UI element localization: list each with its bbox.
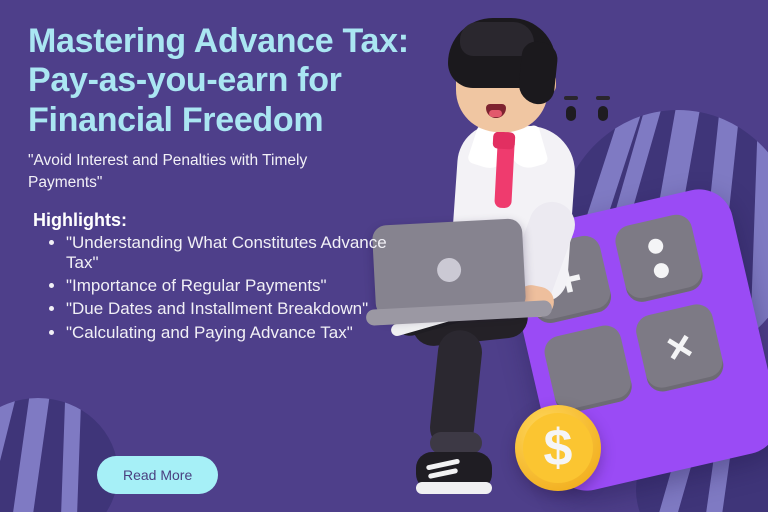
title-line-1: Mastering Advance Tax:: [28, 22, 409, 60]
dollar-icon: $: [515, 405, 601, 491]
list-item: "Due Dates and Installment Breakdown": [66, 299, 410, 319]
calculator-key-divide: [612, 212, 706, 306]
title-line-2: Pay-as-you-earn for: [28, 61, 342, 99]
list-item: "Calculating and Paying Advance Tax": [66, 323, 410, 343]
poster-canvas: + ×: [0, 0, 768, 512]
calculator-key-blank: [541, 322, 635, 416]
text-content: Mastering Advance Tax: Pay-as-you-earn f…: [0, 0, 430, 512]
character-hair-side: [517, 40, 559, 105]
divide-icon-dot-top: [647, 237, 665, 255]
highlights-heading: Highlights:: [0, 194, 430, 231]
highlights-list: "Understanding What Constitutes Advance …: [0, 233, 430, 342]
calculator-key-multiply: ×: [633, 301, 727, 395]
character-tie-knot: [493, 131, 516, 149]
page-title: Mastering Advance Tax: Pay-as-you-earn f…: [0, 0, 430, 140]
character-tie: [494, 140, 515, 209]
character-tongue: [489, 110, 502, 117]
read-more-button[interactable]: Read More: [97, 456, 218, 494]
title-line-3: Financial Freedom: [28, 101, 323, 139]
character-eye-left: [566, 106, 576, 121]
multiply-icon: ×: [633, 301, 727, 395]
character-eyebrow-left: [564, 96, 578, 100]
laptop-logo-icon: [436, 257, 461, 282]
character-eye-right: [598, 106, 608, 121]
character-eyebrow-right: [596, 96, 610, 100]
list-item: "Importance of Regular Payments": [66, 276, 410, 296]
dollar-coin: $: [515, 405, 601, 491]
list-item: "Understanding What Constitutes Advance …: [66, 233, 410, 273]
character-trouser-cuff: [430, 432, 482, 454]
subtitle: "Avoid Interest and Penalties with Timel…: [0, 140, 430, 194]
divide-icon-dot-bottom: [652, 262, 670, 280]
